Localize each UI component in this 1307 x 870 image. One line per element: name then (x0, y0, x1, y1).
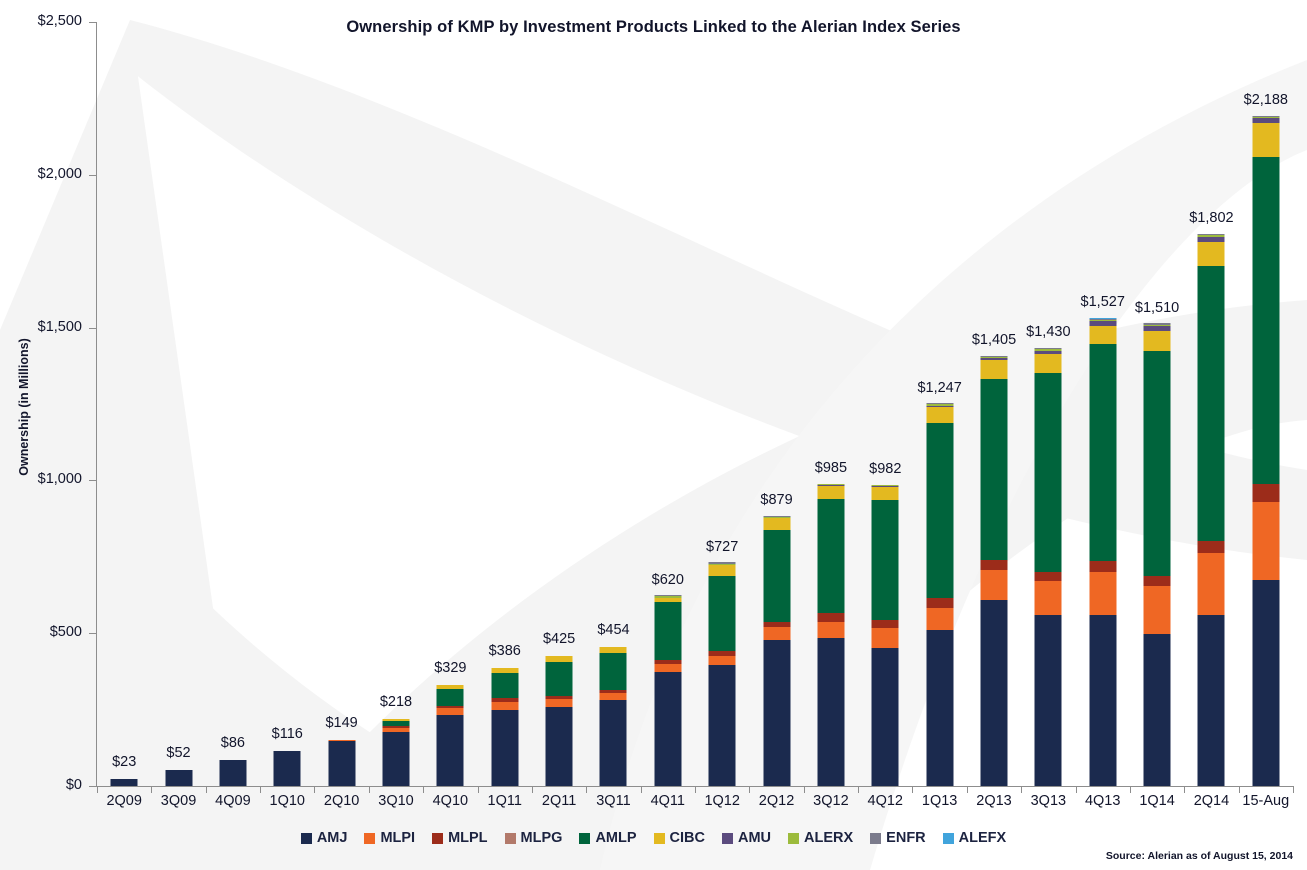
legend-swatch-icon (579, 833, 590, 844)
bar-segment-mlpl[interactable] (1089, 561, 1116, 572)
bar-segment-amlp[interactable] (437, 689, 464, 706)
bar-stack[interactable] (328, 740, 355, 786)
y-tick-label: $2,500 (10, 13, 82, 29)
bar-segment-mlpl[interactable] (1252, 484, 1279, 501)
y-axis-tick-labels: $0$500$1,000$1,500$2,000$2,500 (10, 0, 82, 870)
bar-segment-mlpi[interactable] (1198, 553, 1225, 616)
bar-segment-mlpl[interactable] (1198, 541, 1225, 552)
legend-label: MLPI (380, 830, 415, 846)
bar-segment-cibc[interactable] (980, 360, 1007, 379)
bar-total-label: $86 (221, 735, 245, 751)
y-tick-label: $2,000 (10, 166, 82, 182)
legend-label: ALERX (804, 830, 853, 846)
bar-group[interactable] (749, 22, 803, 786)
bar-segment-cibc[interactable] (709, 565, 736, 576)
bar-segment-mlpl[interactable] (980, 560, 1007, 570)
bar-segment-mlpi[interactable] (491, 702, 518, 710)
bar-segment-amj[interactable] (1144, 634, 1171, 786)
bar-segment-amj[interactable] (600, 700, 627, 786)
bar-stack[interactable] (654, 595, 681, 786)
bar-segment-amj[interactable] (817, 638, 844, 786)
legend-item-cibc[interactable]: CIBC (654, 830, 705, 846)
x-tick-mark (641, 786, 642, 793)
legend-label: ALEFX (959, 830, 1007, 846)
bar-segment-mlpl[interactable] (872, 620, 899, 628)
legend-swatch-icon (432, 833, 443, 844)
legend-swatch-icon (943, 833, 954, 844)
x-tick-label: 15-Aug (1239, 793, 1293, 809)
bar-segment-cibc[interactable] (872, 487, 899, 500)
bar-segment-amj[interactable] (1198, 615, 1225, 786)
bar-total-label: $727 (706, 539, 738, 555)
legend-swatch-icon (654, 833, 665, 844)
legend-item-amj[interactable]: AMJ (301, 830, 348, 846)
legend-swatch-icon (364, 833, 375, 844)
bar-segment-mlpi[interactable] (654, 664, 681, 673)
y-tick-label: $0 (10, 777, 82, 793)
bar-stack[interactable] (763, 516, 790, 786)
bar-total-label: $329 (434, 660, 466, 676)
bar-group[interactable] (804, 22, 858, 786)
bar-segment-mlpi[interactable] (1035, 581, 1062, 615)
bar-group[interactable] (695, 22, 749, 786)
bar-segment-amj[interactable] (328, 741, 355, 786)
bar-segment-cibc[interactable] (926, 407, 953, 423)
bar-stack[interactable] (437, 685, 464, 786)
chart-root: Ownership of KMP by Investment Products … (0, 0, 1307, 870)
x-tick-label: 1Q14 (1130, 793, 1184, 809)
bar-group[interactable] (1021, 22, 1075, 786)
bar-segment-mlpi[interactable] (926, 608, 953, 630)
bar-total-label: $1,802 (1189, 210, 1233, 226)
bar-segment-mlpl[interactable] (1035, 572, 1062, 581)
bar-segment-amj[interactable] (382, 732, 409, 786)
bar-segment-amlp[interactable] (1089, 344, 1116, 561)
bar-group[interactable] (1239, 22, 1293, 786)
bar-segment-amj[interactable] (980, 600, 1007, 786)
x-tick-mark (206, 786, 207, 793)
x-tick-label: 1Q12 (695, 793, 749, 809)
bar-stack[interactable] (600, 647, 627, 786)
bar-segment-mlpi[interactable] (546, 699, 573, 707)
bar-segment-mlpi[interactable] (872, 628, 899, 648)
bar-segment-amlp[interactable] (546, 662, 573, 696)
x-tick-mark (1076, 786, 1077, 793)
bar-segment-amj[interactable] (219, 760, 246, 786)
x-tick-label: 4Q10 (423, 793, 477, 809)
y-tick-mark (89, 328, 96, 329)
bar-total-label: $2,188 (1244, 92, 1288, 108)
x-tick-mark (586, 786, 587, 793)
x-tick-label: 1Q10 (260, 793, 314, 809)
bar-group[interactable] (858, 22, 912, 786)
legend-swatch-icon (301, 833, 312, 844)
legend-item-alefx[interactable]: ALEFX (943, 830, 1007, 846)
y-tick-label: $1,000 (10, 471, 82, 487)
bar-stack[interactable] (709, 562, 736, 786)
legend-swatch-icon (505, 833, 516, 844)
plot-area (97, 22, 1293, 786)
bar-stack[interactable] (219, 760, 246, 786)
legend-item-enfr[interactable]: ENFR (870, 830, 925, 846)
bar-stack[interactable] (1144, 323, 1171, 786)
bar-segment-amlp[interactable] (600, 653, 627, 690)
bar-segment-mlpl[interactable] (1144, 576, 1171, 586)
bar-segment-mlpi[interactable] (1252, 502, 1279, 581)
bar-segment-amj[interactable] (926, 630, 953, 786)
bar-segment-amlp[interactable] (1252, 157, 1279, 485)
legend-item-amlp[interactable]: AMLP (579, 830, 636, 846)
bar-segment-mlpi[interactable] (437, 708, 464, 715)
legend-item-mlpl[interactable]: MLPL (432, 830, 487, 846)
bar-segment-mlpi[interactable] (600, 693, 627, 700)
bar-total-label: $454 (597, 622, 629, 638)
bar-stack[interactable] (1035, 348, 1062, 786)
x-tick-label: 4Q11 (641, 793, 695, 809)
y-tick-mark (89, 480, 96, 481)
bar-total-label: $52 (166, 745, 190, 761)
bar-group[interactable] (532, 22, 586, 786)
bar-segment-amlp[interactable] (763, 530, 790, 622)
bar-segment-amlp[interactable] (709, 576, 736, 651)
x-tick-label: 4Q09 (206, 793, 260, 809)
bar-group[interactable] (586, 22, 640, 786)
bar-group[interactable] (314, 22, 368, 786)
x-tick-label: 3Q09 (151, 793, 205, 809)
source-note: Source: Alerian as of August 15, 2014 (1106, 850, 1293, 862)
bar-total-label: $982 (869, 461, 901, 477)
x-tick-mark (423, 786, 424, 793)
bar-segment-amj[interactable] (1089, 615, 1116, 786)
x-tick-label: 1Q13 (912, 793, 966, 809)
bar-segment-cibc[interactable] (1035, 354, 1062, 373)
x-tick-label: 3Q12 (804, 793, 858, 809)
bar-segment-amlp[interactable] (1035, 373, 1062, 573)
x-tick-label: 2Q11 (532, 793, 586, 809)
bar-total-label: $425 (543, 631, 575, 647)
chart-legend: AMJMLPIMLPLMLPGAMLPCIBCAMUALERXENFRALEFX (0, 830, 1307, 846)
bar-segment-amlp[interactable] (926, 423, 953, 598)
bar-stack[interactable] (382, 719, 409, 786)
x-tick-label: 3Q10 (369, 793, 423, 809)
bar-total-label: $23 (112, 754, 136, 770)
bar-segment-mlpl[interactable] (926, 598, 953, 607)
bar-segment-amj[interactable] (872, 648, 899, 786)
x-tick-mark (912, 786, 913, 793)
bar-segment-mlpl[interactable] (817, 613, 844, 621)
bar-total-label: $149 (325, 715, 357, 731)
x-tick-mark (1293, 786, 1294, 793)
y-tick-label: $1,500 (10, 319, 82, 335)
x-tick-label: 3Q13 (1021, 793, 1075, 809)
x-tick-mark (858, 786, 859, 793)
bar-segment-amj[interactable] (546, 707, 573, 786)
x-tick-label: 2Q13 (967, 793, 1021, 809)
x-tick-label: 2Q10 (314, 793, 368, 809)
y-tick-label: $500 (10, 624, 82, 640)
bar-total-label: $879 (760, 492, 792, 508)
bar-stack[interactable] (980, 356, 1007, 786)
bar-segment-amlp[interactable] (491, 673, 518, 698)
legend-label: AMLP (595, 830, 636, 846)
legend-label: MLPL (448, 830, 487, 846)
bar-group[interactable] (1130, 22, 1184, 786)
bar-total-label: $116 (272, 726, 303, 742)
bar-stack[interactable] (1252, 116, 1279, 786)
x-tick-mark (967, 786, 968, 793)
bar-group[interactable] (478, 22, 532, 786)
bar-group[interactable] (967, 22, 1021, 786)
bar-stack[interactable] (926, 403, 953, 786)
x-tick-label: 4Q12 (858, 793, 912, 809)
legend-label: ENFR (886, 830, 925, 846)
bar-total-label: $985 (815, 460, 847, 476)
y-tick-mark (89, 633, 96, 634)
bar-total-label: $1,510 (1135, 300, 1179, 316)
bar-segment-mlpi[interactable] (1089, 572, 1116, 615)
bar-total-label: $620 (652, 572, 684, 588)
bar-stack[interactable] (872, 485, 899, 786)
legend-label: CIBC (670, 830, 705, 846)
bar-total-label: $386 (489, 643, 521, 659)
bar-total-label: $1,247 (917, 380, 961, 396)
bar-group[interactable] (97, 22, 151, 786)
legend-swatch-icon (722, 833, 733, 844)
x-tick-label: 2Q09 (97, 793, 151, 809)
bar-segment-amlp[interactable] (654, 602, 681, 660)
x-tick-mark (1239, 786, 1240, 793)
bar-segment-amlp[interactable] (1144, 351, 1171, 577)
bar-stack[interactable] (111, 779, 138, 786)
bar-stack[interactable] (1089, 318, 1116, 786)
x-tick-mark (478, 786, 479, 793)
legend-label: AMU (738, 830, 771, 846)
x-tick-mark (804, 786, 805, 793)
x-tick-mark (97, 786, 98, 793)
bar-segment-mlpi[interactable] (980, 570, 1007, 601)
bar-segment-mlpi[interactable] (763, 627, 790, 639)
bar-segment-amj[interactable] (763, 640, 790, 786)
bar-segment-amj[interactable] (1252, 580, 1279, 786)
x-tick-mark (314, 786, 315, 793)
bar-group[interactable] (1184, 22, 1238, 786)
bar-segment-cibc[interactable] (817, 486, 844, 499)
bar-total-label: $1,430 (1026, 324, 1070, 340)
bar-segment-amj[interactable] (111, 779, 138, 786)
bar-stack[interactable] (817, 484, 844, 786)
x-tick-mark (369, 786, 370, 793)
bar-segment-amj[interactable] (1035, 615, 1062, 786)
bar-segment-cibc[interactable] (1144, 331, 1171, 350)
legend-item-amu[interactable]: AMU (722, 830, 771, 846)
x-tick-label: 4Q13 (1076, 793, 1130, 809)
x-tick-mark (1130, 786, 1131, 793)
bar-segment-cibc[interactable] (1252, 123, 1279, 157)
bar-segment-amlp[interactable] (872, 500, 899, 620)
legend-label: AMJ (317, 830, 348, 846)
bar-segment-amj[interactable] (491, 710, 518, 786)
x-tick-mark (151, 786, 152, 793)
bar-segment-amlp[interactable] (980, 379, 1007, 560)
bar-segment-mlpi[interactable] (709, 656, 736, 666)
bar-stack[interactable] (546, 656, 573, 786)
bar-stack[interactable] (274, 751, 301, 786)
bar-group[interactable] (912, 22, 966, 786)
legend-item-mlpg[interactable]: MLPG (505, 830, 563, 846)
y-tick-mark (89, 175, 96, 176)
legend-label: MLPG (521, 830, 563, 846)
legend-item-alerx[interactable]: ALERX (788, 830, 853, 846)
y-tick-mark (89, 786, 96, 787)
bar-segment-cibc[interactable] (763, 518, 790, 530)
x-tick-mark (532, 786, 533, 793)
bar-stack[interactable] (491, 668, 518, 786)
bar-group[interactable] (369, 22, 423, 786)
x-tick-mark (260, 786, 261, 793)
bar-segment-mlpi[interactable] (1144, 586, 1171, 634)
bar-group[interactable] (641, 22, 695, 786)
x-tick-label: 3Q11 (586, 793, 640, 809)
y-tick-mark (89, 22, 96, 23)
bar-total-label: $218 (380, 694, 412, 710)
bar-segment-mlpi[interactable] (817, 622, 844, 638)
bar-group[interactable] (206, 22, 260, 786)
bar-segment-amlp[interactable] (1198, 266, 1225, 541)
bar-group[interactable] (260, 22, 314, 786)
bar-total-label: $1,527 (1081, 294, 1125, 310)
x-tick-label: 1Q11 (478, 793, 532, 809)
legend-swatch-icon (788, 833, 799, 844)
bar-segment-cibc[interactable] (1198, 242, 1225, 266)
x-tick-label: 2Q12 (749, 793, 803, 809)
x-tick-mark (749, 786, 750, 793)
x-tick-label: 2Q14 (1184, 793, 1238, 809)
bar-group[interactable] (151, 22, 205, 786)
bar-stack[interactable] (1198, 234, 1225, 786)
bar-segment-amj[interactable] (709, 665, 736, 786)
x-tick-mark (1184, 786, 1185, 793)
bar-segment-amj[interactable] (274, 751, 301, 786)
x-tick-mark (1021, 786, 1022, 793)
bar-segment-amj[interactable] (437, 715, 464, 786)
bar-segment-amj[interactable] (654, 672, 681, 786)
bar-segment-amlp[interactable] (817, 499, 844, 614)
bar-segment-cibc[interactable] (1089, 326, 1116, 343)
bar-segment-amj[interactable] (165, 770, 192, 786)
legend-swatch-icon (870, 833, 881, 844)
bar-stack[interactable] (165, 770, 192, 786)
bar-total-label: $1,405 (972, 332, 1016, 348)
bar-group[interactable] (1076, 22, 1130, 786)
legend-item-mlpi[interactable]: MLPI (364, 830, 415, 846)
x-tick-mark (695, 786, 696, 793)
